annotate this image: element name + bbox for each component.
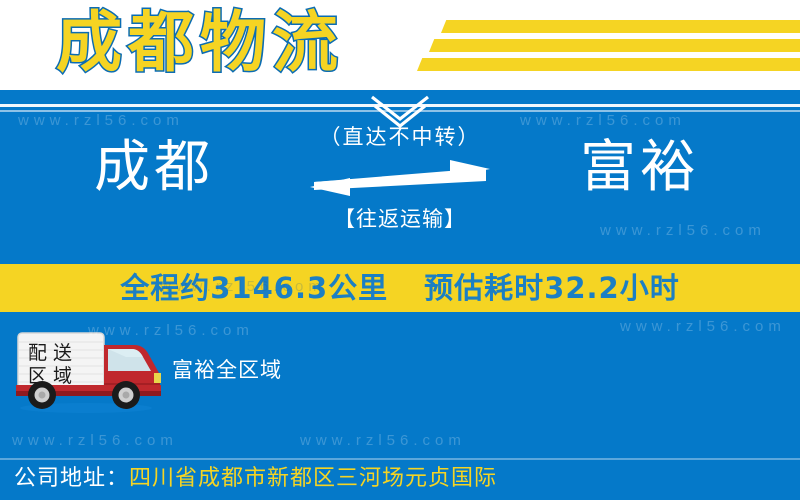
bidirectional-arrows (300, 160, 500, 198)
truck-box-text-line1: 配 送 (28, 342, 72, 364)
stats-band: 全程约3146.3公里 预估耗时32.2小时 (0, 264, 800, 312)
page-title: 成都物流 (56, 4, 344, 80)
delivery-section: 配 送 区 域 富裕全区域 (0, 325, 800, 415)
stat-distance: 全程约3146.3公里 (120, 268, 388, 308)
footer-address-value: 四川省成都市新都区三河场元贞国际 (129, 466, 497, 491)
footer-address-label: 公司地址： (14, 466, 129, 491)
header-stripe-3 (417, 58, 800, 71)
footer-divider (0, 458, 800, 460)
roundtrip-note: 【往返运输】 (280, 202, 520, 236)
header-stripe-2 (429, 39, 800, 52)
delivery-truck-icon: 配 送 区 域 (8, 325, 168, 420)
delivery-area-label: 富裕全区域 (172, 355, 282, 385)
watermark: www.rzl56.com (12, 432, 178, 449)
header-stripe-1 (441, 20, 800, 33)
direct-note: （直达不中转） (280, 120, 520, 154)
origin-city: 成都 (24, 132, 284, 204)
route-section: 成都 （直达不中转） 【往返运输】 富裕 (0, 120, 800, 270)
watermark: www.rzl56.com (300, 432, 466, 449)
route-middle: （直达不中转） 【往返运输】 (280, 120, 520, 236)
footer-address: 公司地址：四川省成都市新都区三河场元贞国际 (14, 462, 497, 496)
logistics-banner: 成都物流 成都 （直达不中转） (0, 0, 800, 500)
stat-duration: 预估耗时32.2小时 (424, 268, 680, 308)
destination-city: 富裕 (510, 132, 770, 204)
